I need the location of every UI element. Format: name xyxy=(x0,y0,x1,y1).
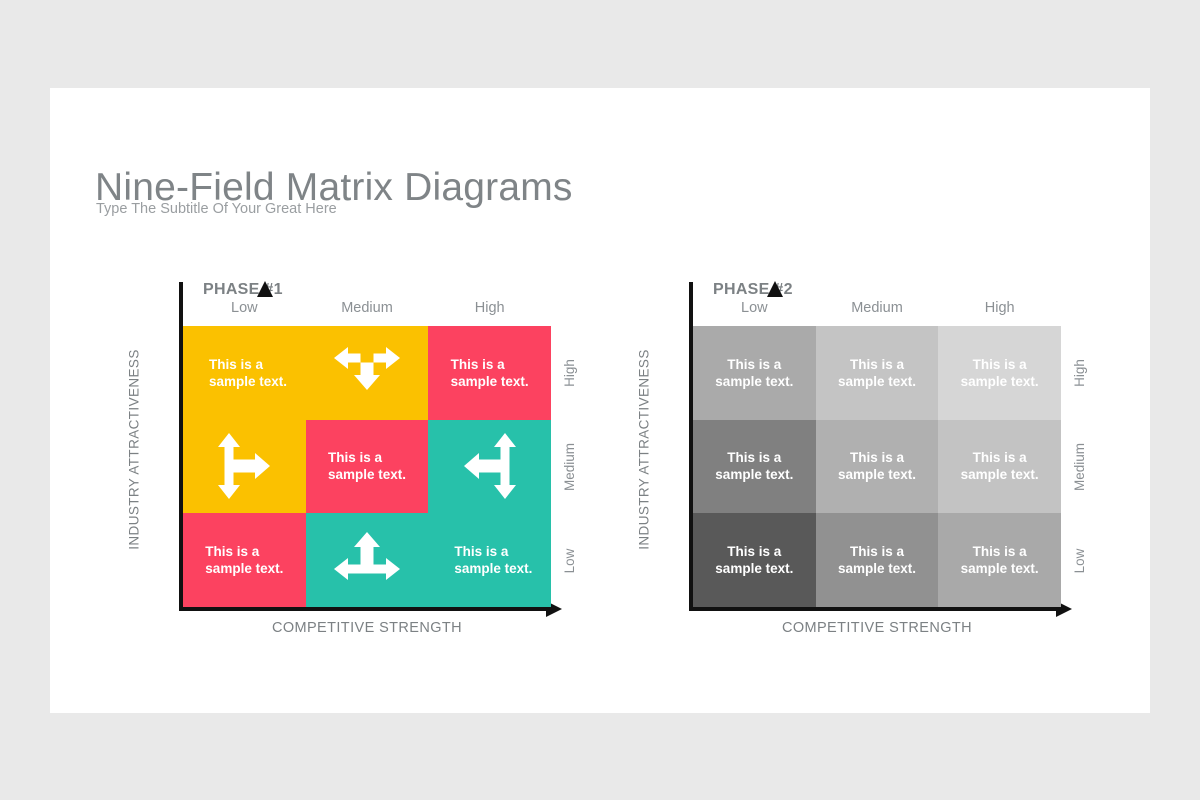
cell-text: This is a sample text. xyxy=(961,543,1039,578)
column-header-high: High xyxy=(938,300,1061,316)
matrix-grid-1: This is a sample text. This is a sample … xyxy=(183,326,551,607)
matrix-cell-g-r2c2[interactable]: This is a sample text. xyxy=(816,420,939,514)
cell-text: This is a sample text. xyxy=(961,449,1039,484)
arrow-up-down-right-icon xyxy=(216,433,272,499)
matrix-panel-phase-1: PHASE #1 INDUSTRY ATTRACTIVENESS COMPETI… xyxy=(95,270,585,655)
arrow-left-right-down-icon xyxy=(334,345,400,401)
column-header-low: Low xyxy=(183,300,306,316)
y-axis-label: INDUSTRY ATTRACTIVENESS xyxy=(637,325,652,575)
arrow-up-down-left-icon xyxy=(462,433,518,499)
matrix-cell-r2c1[interactable] xyxy=(183,420,306,514)
matrix-cell-g-r3c3[interactable]: This is a sample text. xyxy=(938,513,1061,607)
column-headers-1: Low Medium High xyxy=(183,300,551,316)
row-labels-2: High Medium Low xyxy=(1063,326,1095,607)
x-axis-label: COMPETITIVE STRENGTH xyxy=(183,620,551,636)
matrix-grid-2: This is a sample text. This is a sample … xyxy=(693,326,1061,607)
cell-text: This is a sample text. xyxy=(838,356,916,391)
cell-text: This is a sample text. xyxy=(205,543,283,578)
matrix-cell-g-r1c2[interactable]: This is a sample text. xyxy=(816,326,939,420)
matrix-cell-g-r3c1[interactable]: This is a sample text. xyxy=(693,513,816,607)
cell-text: This is a sample text. xyxy=(838,449,916,484)
cell-text: This is a sample text. xyxy=(715,356,793,391)
cell-text: This is a sample text. xyxy=(961,356,1039,391)
cell-text: This is a sample text. xyxy=(838,543,916,578)
page-subtitle: Type The Subtitle Of Your Great Here xyxy=(96,201,337,217)
column-headers-2: Low Medium High xyxy=(693,300,1061,316)
matrix-cell-g-r1c3[interactable]: This is a sample text. xyxy=(938,326,1061,420)
cell-text: This is a sample text. xyxy=(209,356,287,391)
matrix-cell-r2c2[interactable]: This is a sample text. xyxy=(306,420,429,514)
cell-text: This is a sample text. xyxy=(328,449,406,484)
x-axis-line xyxy=(689,607,1059,611)
cell-text: This is a sample text. xyxy=(454,543,532,578)
column-header-medium: Medium xyxy=(306,300,429,316)
matrix-cell-r2c3[interactable] xyxy=(428,420,551,514)
cell-text: This is a sample text. xyxy=(715,543,793,578)
matrix-cell-g-r2c1[interactable]: This is a sample text. xyxy=(693,420,816,514)
arrow-up-left-right-icon xyxy=(334,532,400,588)
column-header-medium: Medium xyxy=(816,300,939,316)
matrix-cell-r1c3[interactable]: This is a sample text. xyxy=(428,326,551,420)
matrix-panel-phase-2: PHASE #2 INDUSTRY ATTRACTIVENESS COMPETI… xyxy=(605,270,1095,655)
row-labels-1: High Medium Low xyxy=(553,326,585,607)
slide-canvas: Nine-Field Matrix Diagrams Type The Subt… xyxy=(50,88,1150,713)
matrix-cell-g-r1c1[interactable]: This is a sample text. xyxy=(693,326,816,420)
matrix-cell-r3c1[interactable]: This is a sample text. xyxy=(183,513,306,607)
matrix-cell-g-r2c3[interactable]: This is a sample text. xyxy=(938,420,1061,514)
column-header-high: High xyxy=(428,300,551,316)
matrix-cell-r1c12[interactable]: This is a sample text. xyxy=(183,326,428,420)
y-axis-arrowhead-icon xyxy=(257,281,273,297)
matrix-cell-g-r3c2[interactable]: This is a sample text. xyxy=(816,513,939,607)
x-axis-label: COMPETITIVE STRENGTH xyxy=(693,620,1061,636)
cell-arrow-wrap xyxy=(306,532,429,588)
cell-arrow-wrap xyxy=(306,345,429,401)
y-axis-arrowhead-icon xyxy=(767,281,783,297)
cell-text: This is a sample text. xyxy=(451,356,529,391)
cell-text: This is a sample text. xyxy=(715,449,793,484)
x-axis-line xyxy=(179,607,549,611)
cell-text-wrap: This is a sample text. xyxy=(183,356,306,391)
cell-text-wrap: This is a sample text. xyxy=(428,543,551,578)
matrix-cell-r3c23[interactable]: This is a sample text. xyxy=(306,513,551,607)
column-header-low: Low xyxy=(693,300,816,316)
y-axis-label: INDUSTRY ATTRACTIVENESS xyxy=(127,325,142,575)
